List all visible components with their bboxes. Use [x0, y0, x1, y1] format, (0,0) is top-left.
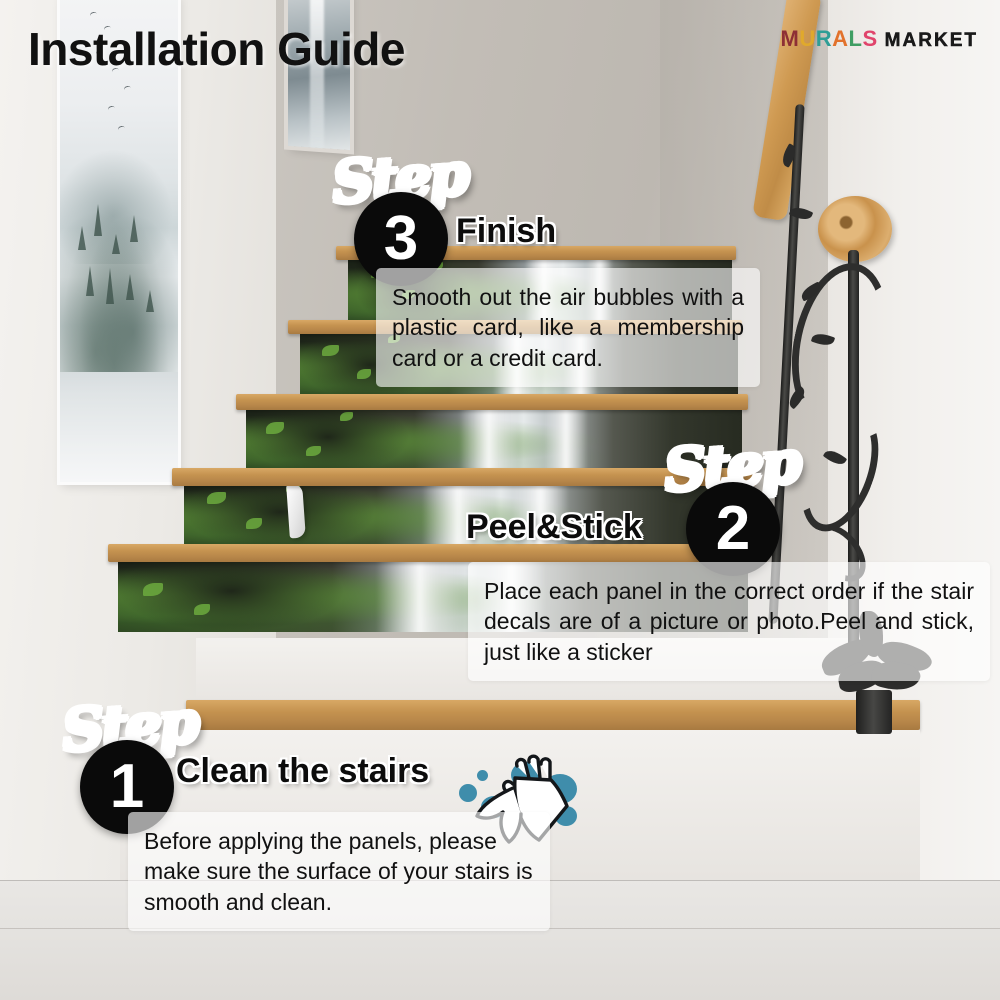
art-tree-mass [60, 172, 178, 372]
logo-letter: K [934, 31, 950, 50]
logo-letter: L [849, 28, 863, 50]
logo-letter: T [964, 31, 978, 50]
step-1-text-panel: Before applying the panels, please make … [128, 812, 550, 931]
logo-letter: R [816, 28, 832, 50]
logo-market-word: MARKET [885, 31, 978, 50]
step-1-body: Before applying the panels, please make … [144, 828, 533, 915]
newel-post-base [856, 690, 892, 734]
step-1-number: 1 [110, 756, 144, 818]
installation-guide-image: Installation Guide MURALS MARKET Step 3 … [0, 0, 1000, 1000]
step-1-heading: Clean the stairs [176, 752, 429, 791]
stair-tread-3 [236, 394, 748, 410]
art-water-reflection [60, 372, 178, 482]
step-2-body: Place each panel in the correct order if… [484, 578, 974, 665]
step-2-number: 2 [716, 498, 750, 560]
step-2-text-panel: Place each panel in the correct order if… [468, 562, 990, 681]
page-title: Installation Guide [28, 22, 405, 76]
logo-letter: E [950, 31, 965, 50]
logo-letter: A [903, 31, 919, 50]
logo-letter: U [799, 28, 815, 50]
logo-letter: A [832, 28, 848, 50]
step-3-body: Smooth out the air bubbles with a plasti… [392, 284, 744, 371]
stair-tread-1 [108, 544, 756, 562]
brand-logo: MURALS MARKET [781, 28, 978, 50]
logo-murals-word: MURALS [781, 28, 878, 50]
logo-letter: S [862, 28, 877, 50]
step-3-heading: Finish [456, 212, 556, 251]
logo-letter: M [885, 31, 903, 50]
step-2-badge: Step 2 [664, 432, 850, 556]
step-3-number: 3 [384, 208, 418, 270]
step-2-heading: Peel&Stick [466, 508, 642, 547]
logo-letter: M [781, 28, 800, 50]
step-3-text-panel: Smooth out the air bubbles with a plasti… [376, 268, 760, 387]
stair-tread-landing [186, 700, 920, 730]
logo-letter: R [918, 31, 934, 50]
